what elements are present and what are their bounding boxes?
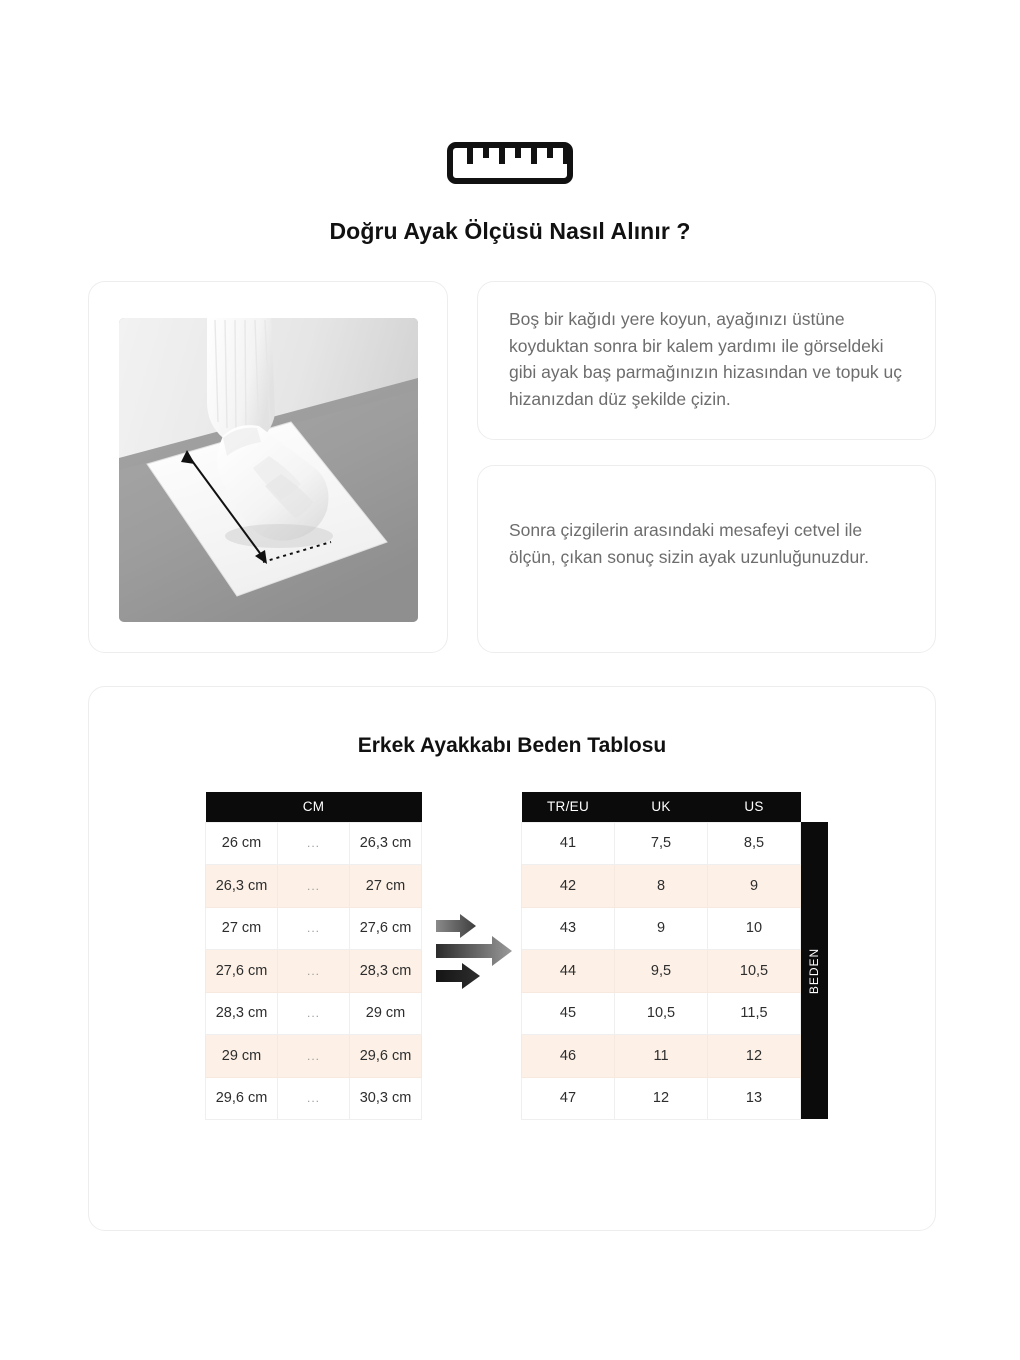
cm-table-body: 26 cm ... 26,3 cm 26,3 cm ... 27 cm 27 c… (206, 822, 422, 1120)
size-header-uk: UK (615, 792, 708, 822)
size-table: TR/EU UK US 41 7,5 8,5 42 8 9 (521, 792, 801, 1120)
table-row: 26 cm ... 26,3 cm (206, 822, 422, 865)
size-header-us: US (708, 792, 801, 822)
cm-from: 27 cm (206, 907, 278, 950)
size-treu: 45 (522, 992, 615, 1035)
table-row: 47 12 13 (522, 1077, 801, 1120)
size-treu: 43 (522, 907, 615, 950)
size-uk: 9,5 (615, 950, 708, 993)
size-chart-title: Erkek Ayakkabı Beden Tablosu (89, 734, 935, 758)
table-row: 41 7,5 8,5 (522, 822, 801, 865)
table-row: 28,3 cm ... 29 cm (206, 992, 422, 1035)
instruction-text-2: Sonra çizgilerin arasındaki mesafeyi cet… (509, 517, 909, 570)
cm-to: 27 cm (350, 865, 422, 908)
beden-side-label-bar: BEDEN (801, 822, 828, 1119)
cm-from: 29 cm (206, 1035, 278, 1078)
cm-separator: ... (278, 822, 350, 865)
cm-to: 27,6 cm (350, 907, 422, 950)
ruler-icon (447, 142, 573, 184)
size-treu: 41 (522, 822, 615, 865)
size-uk: 9 (615, 907, 708, 950)
size-us: 10,5 (708, 950, 801, 993)
size-uk: 11 (615, 1035, 708, 1078)
size-us: 9 (708, 865, 801, 908)
cm-to: 29 cm (350, 992, 422, 1035)
instruction-card-2: Sonra çizgilerin arasındaki mesafeyi cet… (477, 465, 936, 653)
table-row: 27 cm ... 27,6 cm (206, 907, 422, 950)
size-guide-page: Doğru Ayak Ölçüsü Nasıl Alınır ? (0, 0, 1020, 1360)
size-us: 11,5 (708, 992, 801, 1035)
size-uk: 7,5 (615, 822, 708, 865)
table-row: 43 9 10 (522, 907, 801, 950)
page-title: Doğru Ayak Ölçüsü Nasıl Alınır ? (0, 218, 1020, 245)
instruction-photo-card (88, 281, 448, 653)
size-header-treu: TR/EU (522, 792, 615, 822)
size-treu: 44 (522, 950, 615, 993)
cm-separator: ... (278, 1077, 350, 1120)
beden-side-label: BEDEN (808, 947, 822, 993)
size-chart-card: Erkek Ayakkabı Beden Tablosu CM 26 cm ..… (88, 686, 936, 1231)
size-treu: 42 (522, 865, 615, 908)
cm-table-header-row: CM (206, 792, 422, 822)
ruler-icon-container (0, 142, 1020, 184)
foot-photo-illustration (119, 318, 418, 622)
size-treu: 46 (522, 1035, 615, 1078)
size-uk: 10,5 (615, 992, 708, 1035)
instruction-text-1: Boş bir kağıdı yere koyun, ayağınızı üst… (509, 306, 909, 412)
table-row: 44 9,5 10,5 (522, 950, 801, 993)
cm-separator: ... (278, 992, 350, 1035)
cm-from: 27,6 cm (206, 950, 278, 993)
cm-separator: ... (278, 1035, 350, 1078)
size-us: 12 (708, 1035, 801, 1078)
cm-separator: ... (278, 907, 350, 950)
size-tables-container: CM 26 cm ... 26,3 cm 26,3 cm ... 27 cm (89, 792, 937, 1132)
table-row: 46 11 12 (522, 1035, 801, 1078)
cm-separator: ... (278, 865, 350, 908)
size-us: 10 (708, 907, 801, 950)
instruction-card-1: Boş bir kağıdı yere koyun, ayağınızı üst… (477, 281, 936, 440)
table-row: 29 cm ... 29,6 cm (206, 1035, 422, 1078)
cm-separator: ... (278, 950, 350, 993)
table-row: 29,6 cm ... 30,3 cm (206, 1077, 422, 1120)
cm-to: 29,6 cm (350, 1035, 422, 1078)
cm-to: 30,3 cm (350, 1077, 422, 1120)
size-us: 8,5 (708, 822, 801, 865)
cm-from: 26,3 cm (206, 865, 278, 908)
foot-measurement-photo (119, 318, 418, 622)
triple-right-arrow-icon (430, 904, 526, 1000)
size-us: 13 (708, 1077, 801, 1120)
size-treu: 47 (522, 1077, 615, 1120)
table-row: 42 8 9 (522, 865, 801, 908)
cm-from: 28,3 cm (206, 992, 278, 1035)
table-row: 26,3 cm ... 27 cm (206, 865, 422, 908)
cm-from: 26 cm (206, 822, 278, 865)
cm-to: 28,3 cm (350, 950, 422, 993)
size-uk: 8 (615, 865, 708, 908)
table-row: 27,6 cm ... 28,3 cm (206, 950, 422, 993)
cm-table: CM 26 cm ... 26,3 cm 26,3 cm ... 27 cm (205, 792, 422, 1120)
cm-table-header: CM (206, 792, 422, 822)
size-table-body: 41 7,5 8,5 42 8 9 43 9 10 (522, 822, 801, 1120)
cm-to: 26,3 cm (350, 822, 422, 865)
cm-from: 29,6 cm (206, 1077, 278, 1120)
table-row: 45 10,5 11,5 (522, 992, 801, 1035)
size-uk: 12 (615, 1077, 708, 1120)
size-table-header-row: TR/EU UK US (522, 792, 801, 822)
